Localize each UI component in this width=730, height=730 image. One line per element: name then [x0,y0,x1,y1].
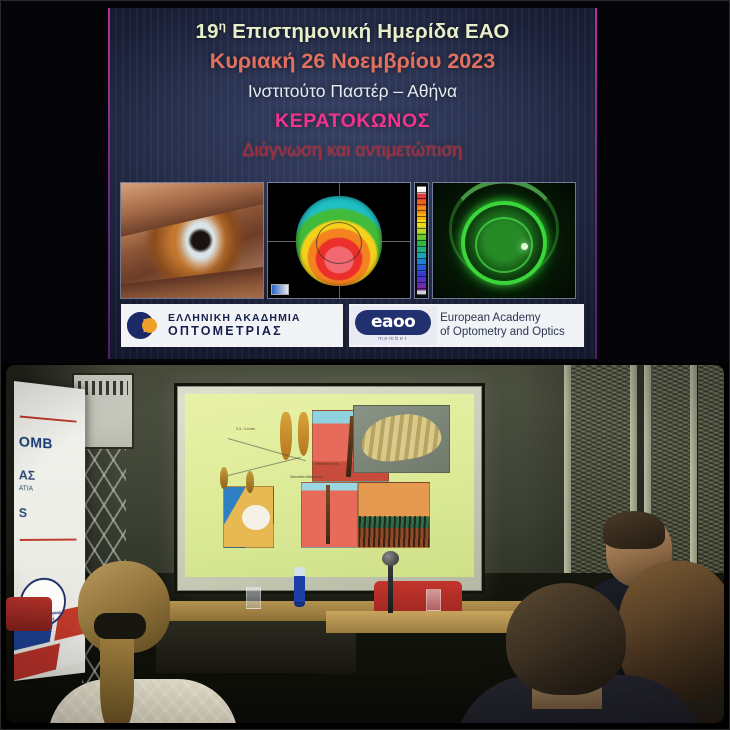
orange-dot-icon [142,318,157,333]
slide-image-strip [121,183,584,298]
eyelid-illustration [223,486,274,548]
leader-line [228,456,301,475]
slide-caption-brevis: Demodex brevis [301,462,353,466]
follicle-cross-section [301,482,358,548]
speaker-hair [603,511,665,549]
electron-micrograph-mite [353,405,450,473]
lower-eyelid [121,264,263,298]
academy-line-1: ΕΛΛΗΝΙΚΗ ΑΚΑΔΗΜΙΑ [168,313,301,325]
fluorescein-lens-fit-photo [433,183,575,298]
lecture-hall-audience-photo: 0.3 - 0.4 mm Demodex folliculorum Demode… [6,365,724,723]
color-scale-ticks [417,186,426,295]
slide-text-block: 19η Επιστημονική Ημερίδα ΕΑΟ Κυριακή 26 … [108,12,597,165]
hair-tie [94,613,146,639]
specular-highlight [521,243,528,250]
eaoo-line-1: European Academy [440,312,565,326]
eyelash-collarette-photo [358,482,429,548]
slide-caption-size: 0.3 - 0.4 mm [208,427,283,431]
upper-eyelid [121,183,263,238]
demodex-lecture-slide: 0.3 - 0.4 mm Demodex folliculorum Demode… [185,394,474,577]
eaoo-member-logo: eaoo member European Academy of Optometr… [349,304,584,347]
banner-line-2: ΑΣ [19,467,35,483]
banner-rule [20,539,77,541]
topography-color-scale [415,183,428,298]
topography-ring-overlay [316,222,362,264]
slide-logo-row: ΕΛΛΗΝΙΚΗ ΑΚΑΔΗΜΙΑ ΟΠΤΟΜΕΤΡΙΑΣ eaoo membe… [121,304,584,347]
eaoo-logo-text: European Academy of Optometry and Optics [440,312,565,340]
banner-line-3: ΑΤΙΑ [19,485,33,492]
corneal-topography-map [268,183,410,298]
academy-crescent-icon [127,311,161,341]
eaoo-line-2: of Optometry and Optics [440,326,565,340]
hellenic-academy-of-optometry-logo: ΕΛΛΗΝΙΚΗ ΑΚΑΔΗΜΙΑ ΟΠΤΟΜΕΤΡΙΑΣ [121,304,343,347]
sponsor-roll-up-banner: OMB ΑΣ ΑΤΙΑ S ΕΛΛΗΝΙΚΗ ΑΚΑΔΗΜΙΑ ΟΠΤΟΜΕΤΡ… [14,381,85,681]
conference-title-slide-photo: 19η Επιστημονική Ημερίδα ΕΑΟ Κυριακή 26 … [0,0,730,363]
slide-caption-folliculorum: Demodex folliculorum [277,475,335,479]
topography-corner-tag [271,284,289,295]
red-conference-chair [6,597,52,631]
banner-rule [20,416,77,423]
academy-line-2: ΟΠΤΟΜΕΤΡΙΑΣ [168,324,301,338]
water-bottle [294,567,305,607]
man-head [506,583,626,695]
drinking-glass [246,587,261,609]
slit-lamp-eye-photo [121,183,263,298]
projected-title-slide: 19η Επιστημονική Ημερίδα ΕΑΟ Κυριακή 26 … [108,8,597,359]
slide-line-topic: ΚΕΡΑΤΟΚΩΝΟΣ [108,106,597,136]
microphone-on-stand [388,561,393,613]
projection-screen: 0.3 - 0.4 mm Demodex folliculorum Demode… [174,383,485,594]
slide-line-subtitle: Διάγνωση και αντιμετώπιση [108,136,597,165]
eaoo-wordmark-pill: eaoo [355,310,431,335]
eaoo-badge-icon: eaoo member [349,306,437,345]
banner-brand-text: OMB [19,433,53,452]
eaoo-wordmark: eaoo [371,312,415,332]
academy-logo-text: ΕΛΛΗΝΙΚΗ ΑΚΑΔΗΜΙΑ ΟΠΤΟΜΕΤΡΙΑΣ [168,313,301,339]
banner-line-4: S [19,505,27,520]
woman-ponytail [100,629,134,723]
eaoo-member-label: member [378,336,408,342]
slide-line-date: Κυριακή 26 Νοεμβρίου 2023 [108,46,597,77]
slide-line-venue: Ινστιτούτο Παστέρ – Αθήνα [108,77,597,106]
drinking-glass [426,589,441,611]
demodex-brevis-illustration [298,412,310,456]
slide-line-event: 19η Επιστημονική Ημερίδα ΕΑΟ [108,12,597,46]
mite-icon [246,471,255,493]
photo-collage: 19η Επιστημονική Ημερίδα ΕΑΟ Κυριακή 26 … [0,0,730,730]
